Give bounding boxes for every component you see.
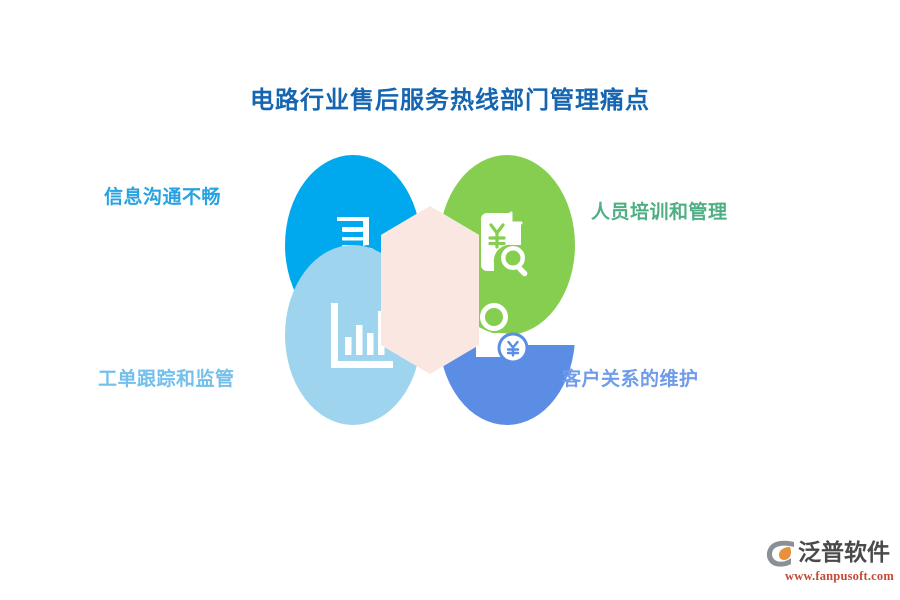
label-bottom-right: 客户关系的维护 — [562, 370, 699, 389]
infographic-canvas: 电路行业售后服务热线部门管理痛点 — [0, 0, 900, 600]
center-hexagon — [381, 206, 479, 374]
page-title: 电路行业售后服务热线部门管理痛点 — [0, 80, 900, 115]
fanpu-swoosh-logo-icon — [766, 539, 796, 567]
label-top-right: 人员培训和管理 — [591, 203, 728, 222]
logo-text: 泛普软件 — [798, 539, 890, 567]
label-bottom-left: 工单跟踪和监管 — [98, 370, 235, 389]
label-top-left: 信息沟通不畅 — [104, 188, 221, 207]
petal-diagram — [285, 145, 575, 435]
brand-logo[interactable]: 泛普软件 www.fanpusoft.com — [766, 538, 894, 586]
logo-url: www.fanpusoft.com — [766, 569, 894, 584]
